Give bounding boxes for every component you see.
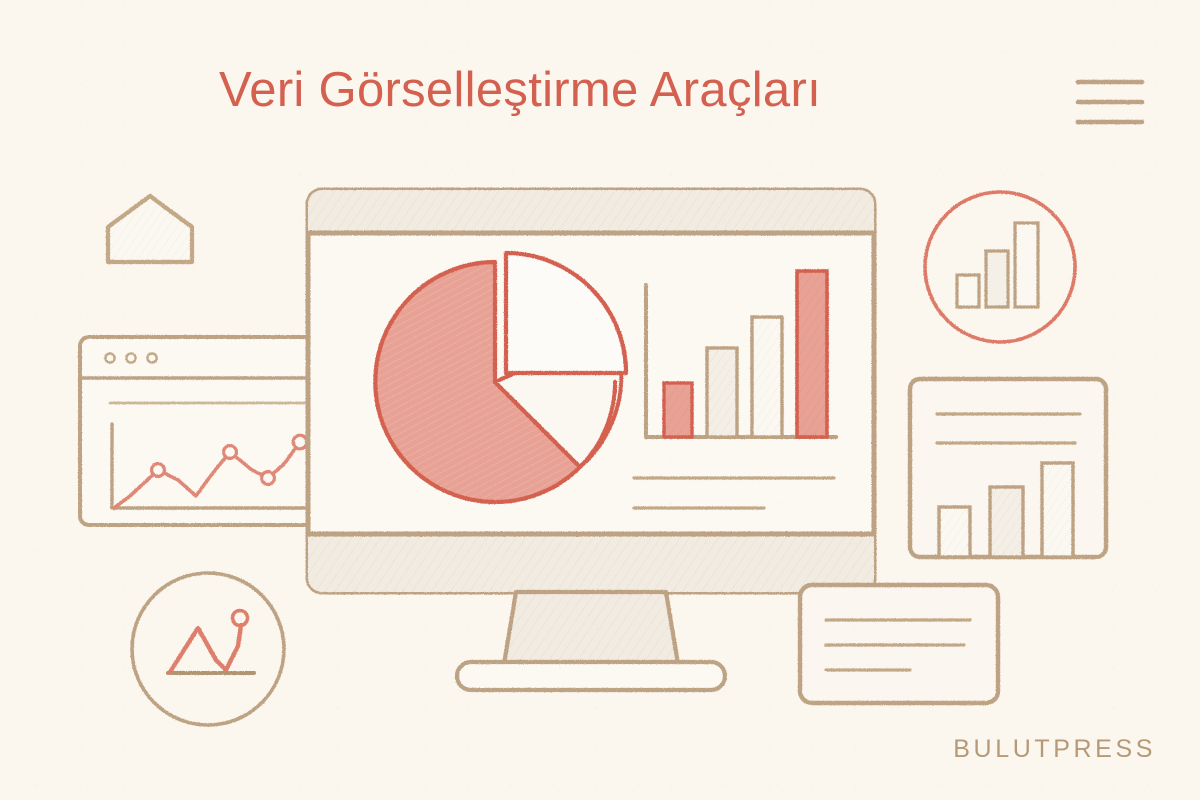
- home-icon: [108, 196, 192, 262]
- monitor-stand: [457, 592, 725, 690]
- illustration-artboard: [0, 0, 1200, 800]
- page-title: Veri Görselleştirme Araçları: [0, 64, 1040, 118]
- circular-line-chart-badge[interactable]: [132, 573, 284, 725]
- note-card[interactable]: [800, 585, 998, 703]
- poster-canvas: Veri Görselleştirme Araçları BULUTPRESS: [0, 0, 1200, 800]
- hamburger-menu-icon[interactable]: [1078, 82, 1142, 122]
- circular-bar-chart-badge[interactable]: [925, 192, 1075, 342]
- browser-window-card[interactable]: [80, 337, 328, 525]
- brand-watermark: BULUTPRESS: [953, 735, 1156, 764]
- desktop-monitor[interactable]: [308, 190, 874, 690]
- report-card[interactable]: [910, 379, 1106, 557]
